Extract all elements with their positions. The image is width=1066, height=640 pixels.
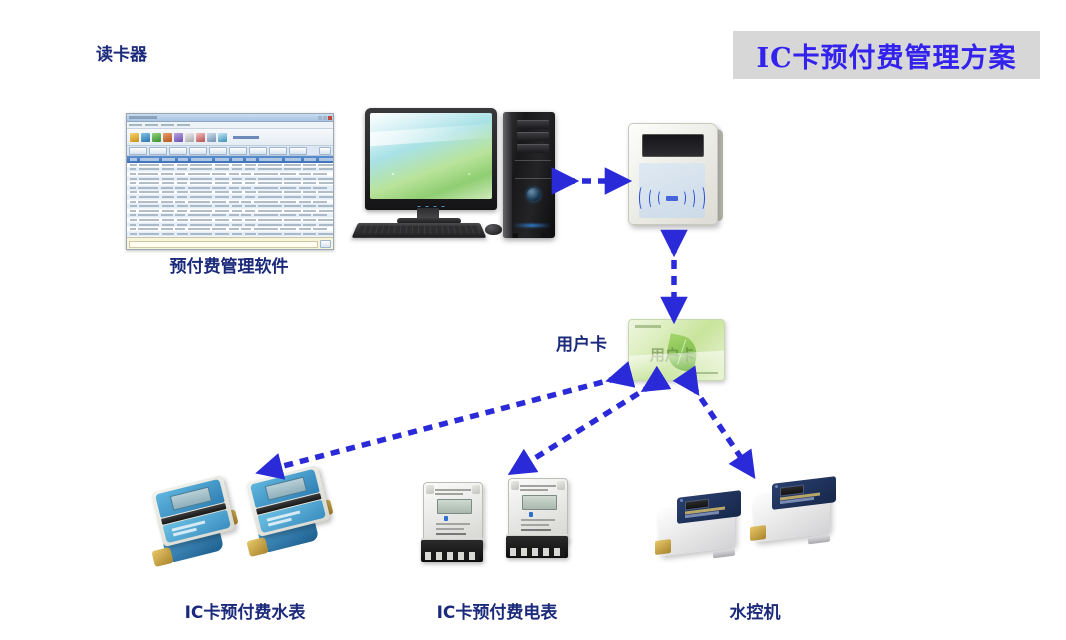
meter-print <box>435 493 463 495</box>
meter-print <box>520 489 548 491</box>
table-cell <box>139 191 159 193</box>
query-button[interactable] <box>129 147 147 155</box>
table-cell <box>313 228 327 230</box>
table-cell <box>190 191 212 193</box>
table-cell <box>177 164 188 166</box>
user-card-label: 用户卡 <box>556 330 607 355</box>
table-cell <box>177 233 188 235</box>
close-button[interactable] <box>319 147 331 155</box>
mouse <box>485 224 502 235</box>
keyboard <box>352 223 487 238</box>
table-cell <box>162 233 175 235</box>
table-cell <box>139 224 159 226</box>
table-cell <box>245 219 256 221</box>
page-title: IC卡预付费管理方案 <box>756 36 1016 75</box>
table-cell <box>245 210 256 212</box>
meter-housing <box>508 478 568 542</box>
toolbar-icon[interactable] <box>141 133 150 142</box>
table-cell <box>245 168 256 170</box>
table-cell <box>280 173 296 175</box>
filter-button[interactable] <box>149 147 167 155</box>
prepaid-water-meter <box>150 475 242 575</box>
table-cell <box>139 196 159 198</box>
column-header[interactable] <box>162 158 174 161</box>
table-cell <box>161 214 173 216</box>
table-cell <box>241 201 251 203</box>
water-meter-label: IC卡预付费水表 <box>185 598 306 623</box>
toolbar-icon[interactable] <box>174 133 183 142</box>
table-cell <box>318 164 333 166</box>
table-cell <box>319 196 334 198</box>
indicator-led-icon <box>529 512 533 517</box>
print-button[interactable] <box>249 147 267 155</box>
table-cell <box>162 219 175 221</box>
table-cell <box>190 168 212 170</box>
software-filter-panel[interactable] <box>127 237 333 250</box>
table-cell <box>284 191 300 193</box>
table-cell <box>258 168 282 170</box>
table-cell <box>190 210 212 212</box>
prepaid-electricity-meter <box>415 478 495 578</box>
software-button-row[interactable] <box>127 146 333 156</box>
table-cell <box>232 224 243 226</box>
table-cell <box>280 228 296 230</box>
reader-display <box>642 134 704 157</box>
table-cell <box>254 173 278 175</box>
table-cell <box>161 201 173 203</box>
table-cell <box>284 196 300 198</box>
table-cell <box>188 187 210 189</box>
indicator-led-icon <box>775 485 778 488</box>
table-cell <box>232 210 243 212</box>
table-cell <box>161 228 173 230</box>
table-cell <box>188 214 210 216</box>
table-cell <box>241 187 251 189</box>
table-cell <box>241 228 251 230</box>
table-cell <box>212 173 226 175</box>
software-toolbar[interactable] <box>127 129 333 146</box>
table-cell <box>188 173 210 175</box>
table-cell <box>313 173 327 175</box>
table-cell <box>303 233 316 235</box>
table-cell <box>190 178 212 180</box>
table-cell <box>258 178 282 180</box>
table-cell <box>138 201 158 203</box>
table-cell <box>280 187 296 189</box>
window-maximize-button[interactable] <box>323 116 327 120</box>
table-cell <box>139 219 159 221</box>
table-cell <box>130 182 137 184</box>
table-cell <box>190 164 212 166</box>
table-cell <box>241 173 251 175</box>
desktop-computer <box>355 108 555 248</box>
meter-housing <box>423 482 483 546</box>
table-cell <box>284 178 300 180</box>
table-cell <box>161 187 173 189</box>
table-cell <box>177 191 188 193</box>
table-cell <box>303 224 316 226</box>
table-cell <box>162 205 175 207</box>
column-header[interactable] <box>304 158 316 161</box>
add-button[interactable] <box>169 147 187 155</box>
mounting-lug <box>426 485 434 494</box>
table-cell <box>162 168 175 170</box>
reader-card-area[interactable] <box>639 163 705 218</box>
table-cell <box>303 168 316 170</box>
table-cell <box>254 187 278 189</box>
column-header[interactable] <box>246 158 257 161</box>
menu-item[interactable] <box>129 124 142 127</box>
table-cell <box>299 173 311 175</box>
meter-print <box>521 519 555 521</box>
terminal-block <box>421 540 483 562</box>
table-cell <box>130 164 137 166</box>
tower-foot <box>541 233 546 238</box>
table-cell <box>162 210 175 212</box>
column-header[interactable] <box>285 158 301 161</box>
table-cell <box>319 182 334 184</box>
table-cell <box>245 233 256 235</box>
table-cell <box>299 214 311 216</box>
column-header[interactable] <box>215 158 229 161</box>
table-cell <box>229 214 239 216</box>
table-cell <box>175 187 185 189</box>
refresh-button[interactable] <box>269 147 287 155</box>
table-cell <box>162 182 175 184</box>
table-cell <box>284 233 300 235</box>
toolbar-caption <box>233 136 259 139</box>
menu-item[interactable] <box>177 124 190 127</box>
table-cell <box>229 187 239 189</box>
column-header[interactable] <box>178 158 189 161</box>
table-cell <box>138 173 158 175</box>
monitor-screen <box>370 113 492 199</box>
table-cell <box>245 164 256 166</box>
controller-mount <box>808 535 830 545</box>
data-grid-header <box>127 156 333 163</box>
column-header[interactable] <box>130 158 137 161</box>
brass-fitting <box>151 547 173 567</box>
table-cell <box>139 233 159 235</box>
export-button[interactable] <box>229 147 247 155</box>
software-menu-bar[interactable] <box>127 122 333 129</box>
table-cell <box>190 219 212 221</box>
toolbar-icon[interactable] <box>130 133 139 142</box>
table-cell <box>319 210 334 212</box>
table-cell <box>284 224 300 226</box>
table-cell <box>232 164 243 166</box>
table-cell <box>232 205 243 207</box>
indicator-led-icon <box>680 499 683 502</box>
table-cell <box>139 178 159 180</box>
table-cell <box>319 168 334 170</box>
table-cell <box>188 228 210 230</box>
table-cell <box>130 173 136 175</box>
table-cell <box>258 210 282 212</box>
column-header[interactable] <box>259 158 282 161</box>
table-cell <box>318 178 333 180</box>
table-cell <box>190 182 212 184</box>
window-minimize-button[interactable] <box>318 116 322 120</box>
indicator-led-icon <box>444 516 448 521</box>
prepaid-water-meter <box>245 465 337 565</box>
table-cell <box>162 191 175 193</box>
table-cell <box>130 219 137 221</box>
mounting-lug <box>472 485 480 494</box>
table-cell <box>130 201 136 203</box>
table-cell <box>212 228 226 230</box>
table-cell <box>299 201 311 203</box>
table-cell <box>162 196 175 198</box>
prepaid-management-software-window[interactable] <box>126 113 334 250</box>
meter-print <box>436 523 470 525</box>
controller-mount <box>713 549 735 559</box>
table-cell <box>138 228 158 230</box>
table-cell <box>130 224 137 226</box>
card-printed-text <box>688 372 718 375</box>
table-cell <box>313 187 327 189</box>
column-header[interactable] <box>191 158 212 161</box>
toolbar-icon[interactable] <box>207 133 216 142</box>
table-cell <box>177 219 188 221</box>
ic-user-card: 用户卡 <box>628 319 725 381</box>
table-cell <box>313 214 327 216</box>
table-cell <box>318 205 333 207</box>
table-cell <box>303 205 316 207</box>
meter-housing <box>245 465 330 537</box>
power-button-icon[interactable] <box>527 188 540 201</box>
table-cell <box>139 182 159 184</box>
tower-seam <box>515 178 551 179</box>
water-controller <box>655 492 755 572</box>
meter-print <box>436 533 466 535</box>
table-cell <box>280 201 296 203</box>
delete-button[interactable] <box>209 147 227 155</box>
filter-input[interactable] <box>129 241 318 248</box>
table-cell <box>190 196 212 198</box>
brass-fitting <box>750 525 766 541</box>
water-meter-group: IC卡预付费水表 <box>150 465 350 615</box>
table-cell <box>215 178 230 180</box>
table-cell <box>258 196 282 198</box>
tower-led-glow <box>513 224 551 227</box>
table-cell <box>232 178 243 180</box>
table-cell <box>215 196 230 198</box>
toolbar-icon[interactable] <box>218 133 227 142</box>
drive-bay <box>517 132 549 141</box>
table-cell <box>188 201 210 203</box>
table-cell <box>303 164 316 166</box>
table-cell <box>138 214 158 216</box>
column-header[interactable] <box>319 158 333 161</box>
drive-bay <box>517 144 549 153</box>
terminal-block <box>506 536 568 558</box>
meter-housing <box>150 475 235 547</box>
table-cell <box>229 228 239 230</box>
meter-lcd <box>522 495 557 510</box>
meter-print <box>436 528 464 530</box>
water-controller-label: 水控机 <box>730 598 781 623</box>
table-cell <box>284 168 300 170</box>
table-cell <box>130 178 137 180</box>
toolbar-icon[interactable] <box>152 133 161 142</box>
table-cell <box>313 201 327 203</box>
title-banner: IC卡预付费管理方案 <box>733 31 1040 79</box>
table-cell <box>303 219 316 221</box>
edit-button[interactable] <box>189 147 207 155</box>
table-cell <box>190 205 212 207</box>
table-cell <box>130 214 136 216</box>
table-cell <box>245 205 256 207</box>
table-cell <box>130 205 137 207</box>
table-cell <box>258 233 282 235</box>
brass-fitting <box>655 539 671 555</box>
column-header[interactable] <box>232 158 243 161</box>
table-cell <box>138 187 158 189</box>
table-cell <box>254 214 278 216</box>
table-cell <box>190 233 212 235</box>
table-cell <box>284 210 300 212</box>
table-cell <box>215 168 230 170</box>
table-cell <box>303 191 316 193</box>
meter-print <box>521 524 549 526</box>
table-cell <box>258 219 282 221</box>
table-cell <box>254 201 278 203</box>
table-cell <box>162 224 175 226</box>
menu-item[interactable] <box>145 124 158 127</box>
table-cell <box>280 214 296 216</box>
table-cell <box>245 182 256 184</box>
card-sheen <box>628 349 725 380</box>
table-cell <box>318 219 333 221</box>
table-cell <box>215 233 230 235</box>
table-cell <box>232 182 243 184</box>
table-cell <box>162 164 175 166</box>
table-cell <box>245 178 256 180</box>
table-cell <box>318 191 333 193</box>
table-cell <box>130 168 137 170</box>
toolbar-icon[interactable] <box>163 133 172 142</box>
card-printed-text <box>635 325 661 328</box>
monitor-indicator-lights <box>418 206 445 208</box>
settings-button[interactable] <box>289 147 307 155</box>
meter-print <box>435 489 471 491</box>
table-cell <box>284 182 300 184</box>
table-cell <box>215 182 230 184</box>
arrow-card-electric-meter <box>519 385 652 468</box>
table-cell <box>299 228 311 230</box>
mounting-lug <box>511 481 519 490</box>
table-cell <box>177 178 188 180</box>
table-cell <box>229 201 239 203</box>
toolbar-icon[interactable] <box>196 133 205 142</box>
table-cell <box>215 224 230 226</box>
table-cell <box>303 210 316 212</box>
table-cell <box>212 214 226 216</box>
monitor <box>365 108 497 210</box>
table-cell <box>161 173 173 175</box>
table-cell <box>232 233 243 235</box>
window-close-button[interactable] <box>328 116 332 120</box>
rfid-wave-icon <box>639 185 705 211</box>
table-cell <box>241 214 251 216</box>
table-cell <box>245 224 256 226</box>
meter-print <box>521 529 551 531</box>
table-cell <box>130 191 137 193</box>
reader-body <box>628 123 718 225</box>
tower-seam <box>515 160 551 161</box>
table-cell <box>139 168 159 170</box>
data-grid-body[interactable] <box>127 163 333 237</box>
table-cell <box>232 196 243 198</box>
table-cell <box>139 210 159 212</box>
table-cell <box>258 224 282 226</box>
table-cell <box>212 187 226 189</box>
toolbar-icon[interactable] <box>185 133 194 142</box>
table-cell <box>232 168 243 170</box>
table-cell <box>177 224 188 226</box>
water-controller <box>750 478 850 558</box>
table-cell <box>130 187 136 189</box>
table-cell <box>177 168 188 170</box>
table-cell <box>215 164 230 166</box>
table-cell <box>130 196 137 198</box>
table-cell <box>190 224 212 226</box>
water-controller-group: 水控机 <box>655 478 845 618</box>
table-cell <box>245 196 256 198</box>
brass-fitting <box>246 537 268 557</box>
software-title-bar <box>127 114 333 122</box>
table-cell <box>130 233 137 235</box>
meter-lcd <box>437 499 472 514</box>
table-cell <box>258 191 282 193</box>
tower-foot <box>513 233 518 238</box>
table-cell <box>212 201 226 203</box>
menu-item[interactable] <box>161 124 174 127</box>
table-cell <box>130 228 136 230</box>
table-cell <box>175 201 185 203</box>
drive-bay <box>517 120 549 129</box>
electric-meter-label: IC卡预付费电表 <box>437 598 558 623</box>
table-cell <box>139 205 159 207</box>
table-cell <box>284 219 300 221</box>
table-cell <box>175 214 185 216</box>
table-cell <box>130 210 137 212</box>
table-cell <box>232 219 243 221</box>
table-cell <box>258 205 282 207</box>
table-cell <box>177 205 188 207</box>
table-cell <box>215 219 230 221</box>
table-cell <box>299 187 311 189</box>
software-label: 预付费管理软件 <box>170 252 289 277</box>
table-cell <box>258 182 282 184</box>
prepaid-electricity-meter <box>500 474 580 574</box>
column-header[interactable] <box>140 158 159 161</box>
table-cell <box>215 205 230 207</box>
table-cell <box>162 178 175 180</box>
table-cell <box>215 210 230 212</box>
table-cell <box>303 182 316 184</box>
table-cell <box>319 224 334 226</box>
reader-label: 读卡器 <box>96 40 147 65</box>
electric-meter-group: IC卡预付费电表 <box>415 470 595 615</box>
table-cell <box>318 233 333 235</box>
filter-go-button[interactable] <box>320 240 331 248</box>
table-cell <box>245 191 256 193</box>
table-cell <box>175 228 185 230</box>
ic-card-reader <box>628 123 720 231</box>
computer-tower <box>503 112 555 238</box>
